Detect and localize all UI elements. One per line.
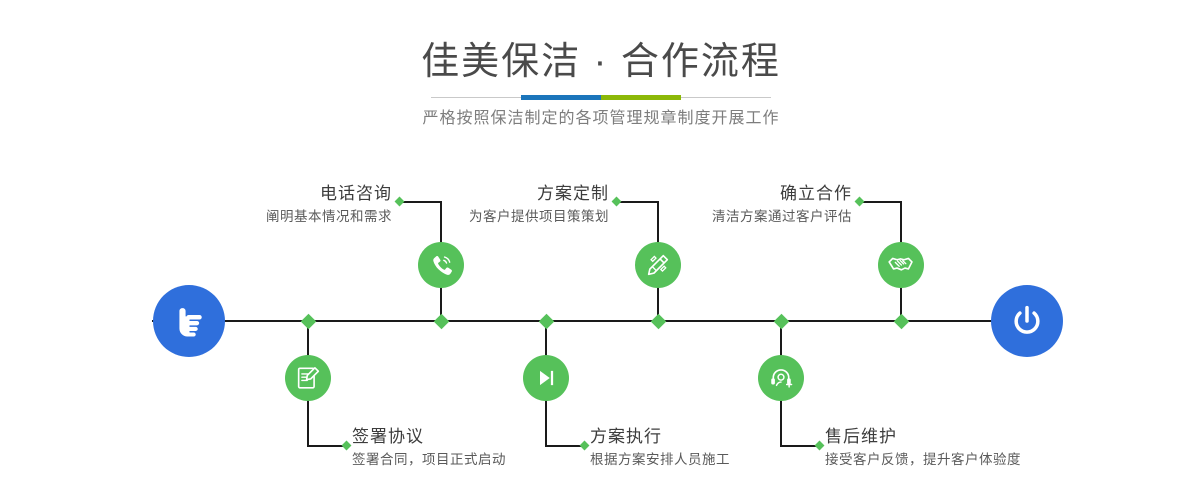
- step-label-establish-coop: 确立合作 清洁方案通过客户评估: [460, 183, 852, 227]
- pointing-hand-icon: [169, 301, 209, 341]
- step-node-plan-custom[interactable]: [635, 242, 681, 288]
- connector-horizontal: [618, 201, 658, 203]
- axis-marker: [651, 314, 667, 330]
- axis-marker: [894, 314, 910, 330]
- axis-marker: [774, 314, 790, 330]
- customer-support-icon: [768, 365, 794, 391]
- step-desc: 签署合同，项目正式启动: [352, 450, 506, 470]
- axis-marker: [434, 314, 450, 330]
- step-desc: 接受客户反馈，提升客户体验度: [825, 450, 1021, 470]
- label-marker: [855, 197, 865, 207]
- label-marker: [815, 441, 825, 451]
- step-title: 签署协议: [352, 426, 506, 448]
- step-label-plan-execution: 方案执行 根据方案安排人员施工: [590, 426, 730, 470]
- timeline-axis: [152, 320, 1052, 322]
- handshake-icon: [887, 251, 915, 279]
- connector-horizontal: [861, 201, 901, 203]
- timeline-start-node[interactable]: [153, 285, 225, 357]
- connector-horizontal: [401, 201, 441, 203]
- step-title: 方案执行: [590, 426, 730, 448]
- step-desc: 根据方案安排人员施工: [590, 450, 730, 470]
- process-timeline: 签署协议 签署合同，项目正式启动 电话咨询 阐明基本情况和需求: [0, 0, 1202, 502]
- step-desc: 清洁方案通过客户评估: [460, 207, 852, 227]
- pen-design-icon: [645, 252, 671, 278]
- step-node-after-sales[interactable]: [758, 355, 804, 401]
- step-title: 售后维护: [825, 426, 1021, 448]
- label-marker: [342, 441, 352, 451]
- step-label-sign-agreement: 签署协议 签署合同，项目正式启动: [352, 426, 506, 470]
- play-skip-icon: [534, 366, 558, 390]
- step-node-sign-agreement[interactable]: [285, 355, 331, 401]
- step-node-phone-consult[interactable]: [418, 242, 464, 288]
- step-node-plan-execution[interactable]: [523, 355, 569, 401]
- connector-horizontal: [545, 445, 584, 447]
- connector-horizontal: [780, 445, 819, 447]
- flow-chart-page: 佳美保洁 · 合作流程 严格按照保洁制定的各项管理规章制度开展工作: [0, 0, 1202, 502]
- document-edit-icon: [295, 365, 321, 391]
- label-marker: [580, 441, 590, 451]
- phone-call-icon: [428, 252, 454, 278]
- axis-marker: [539, 314, 555, 330]
- step-label-after-sales: 售后维护 接受客户反馈，提升客户体验度: [825, 426, 1021, 470]
- timeline-end-node[interactable]: [991, 285, 1063, 357]
- connector-horizontal: [307, 445, 346, 447]
- step-node-establish-coop[interactable]: [878, 242, 924, 288]
- power-icon: [1007, 301, 1047, 341]
- axis-marker: [301, 314, 317, 330]
